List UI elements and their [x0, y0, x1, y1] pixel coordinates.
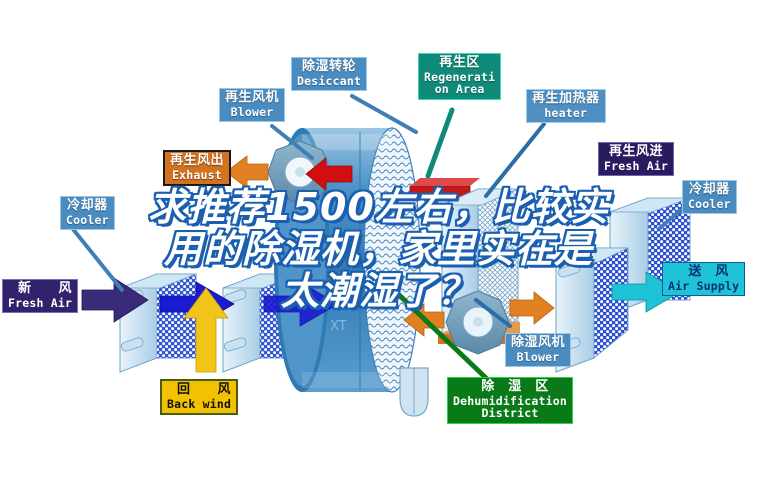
label-dehumidification-district-cn: 除 湿 区: [453, 380, 567, 395]
label-regeneration-air-outlet[interactable]: 再生风出 Exhaust: [163, 150, 231, 186]
label-regeneration-heater-cn: 再生加热器: [532, 92, 600, 107]
label-regeneration-air-outlet-cn: 再生风出: [170, 154, 224, 169]
rotor-segment-detached: [400, 368, 428, 416]
label-regeneration-blower-en: Blower: [225, 106, 279, 119]
exhaust-arrow: [226, 156, 268, 188]
label-regeneration-air-inlet-cn: 再生风进: [604, 145, 668, 160]
headline-line-3: 太潮湿了？: [0, 270, 757, 312]
label-desiccant-rotor[interactable]: 除湿转轮 Desiccant: [291, 57, 367, 91]
svg-text:XT: XT: [330, 319, 347, 334]
label-regeneration-heater-en: heater: [532, 107, 600, 120]
label-desiccant-rotor-en: Desiccant: [297, 75, 361, 88]
label-dehumidification-blower-cn: 除湿风机: [511, 336, 565, 351]
label-regeneration-area-cn: 再生区: [424, 56, 495, 71]
label-regeneration-air-inlet-en: Fresh Air: [604, 160, 668, 173]
label-regeneration-air-inlet[interactable]: 再生风进 Fresh Air: [598, 142, 674, 176]
label-regeneration-heater[interactable]: 再生加热器 heater: [526, 89, 606, 123]
label-regeneration-area-en-2: on Area: [424, 83, 495, 96]
label-dehumidification-blower-en: Blower: [511, 351, 565, 364]
headline-line-2: 用的除湿机，家里实在是: [0, 228, 757, 270]
label-dehumidification-district-en-2: District: [453, 407, 567, 420]
headline-overlay: 求推荐1500左右，比较实 用的除湿机，家里实在是 太潮湿了？: [0, 186, 757, 312]
label-desiccant-rotor-cn: 除湿转轮: [297, 60, 361, 75]
label-regeneration-blower[interactable]: 再生风机 Blower: [219, 88, 285, 122]
label-regeneration-area[interactable]: 再生区 Regenerati on Area: [418, 53, 501, 100]
label-dehumidification-district[interactable]: 除 湿 区 Dehumidification District: [447, 377, 573, 424]
headline-line-1: 求推荐1500左右，比较实: [0, 186, 757, 228]
label-back-wind[interactable]: 回 风 Back wind: [160, 379, 238, 415]
label-regeneration-blower-cn: 再生风机: [225, 91, 279, 106]
diagram-image: XT: [0, 0, 757, 488]
label-regeneration-air-outlet-en: Exhaust: [170, 169, 224, 182]
label-back-wind-en: Back wind: [167, 398, 231, 411]
label-back-wind-cn: 回 风: [167, 383, 231, 398]
label-dehumidification-blower[interactable]: 除湿风机 Blower: [505, 333, 571, 367]
